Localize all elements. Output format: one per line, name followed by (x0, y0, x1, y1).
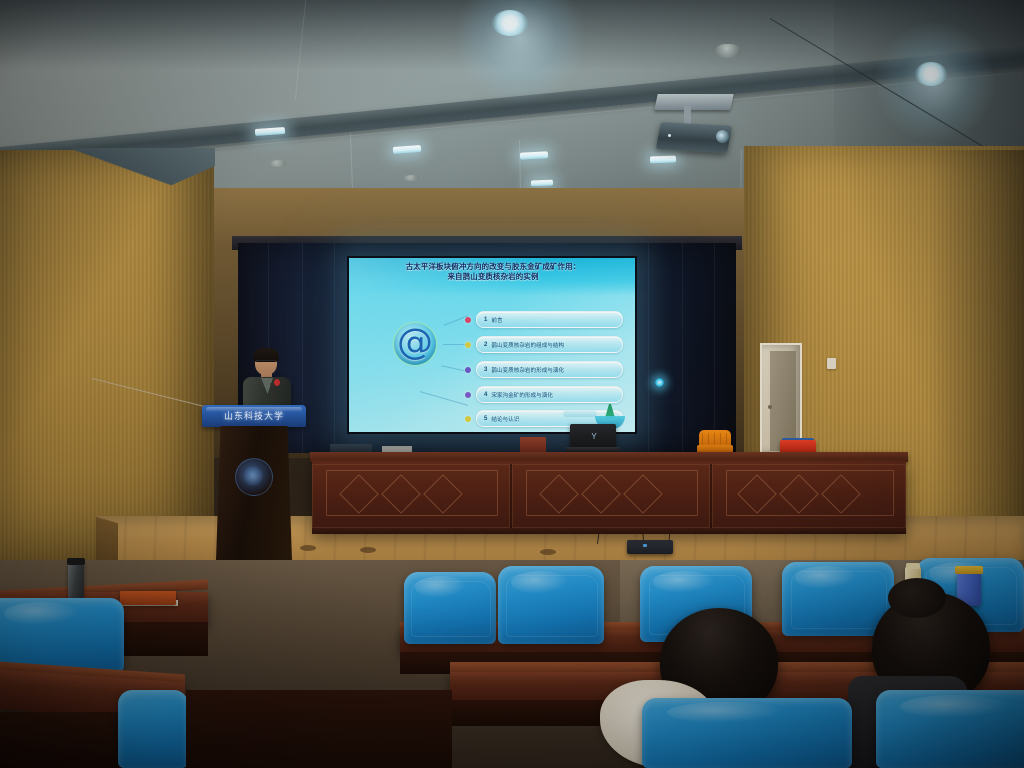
lecture-hall-photo: 古太平洋板块俯冲方向的改变与胶东金矿成矿作用： 来自鹊山变质核杂岩的实例 @ 1… (0, 0, 1024, 768)
foreground-chair[interactable] (642, 698, 852, 768)
slide-item-1: 1 前言 (465, 311, 623, 328)
panel-diamond-motif (821, 474, 861, 514)
slide-item-pill: 4 宋家沟金矿的形成与演化 (476, 386, 623, 403)
chair-highlight (4, 602, 79, 624)
slide-item-number: 4 (477, 392, 491, 398)
slide-title-line-1: 古太平洋板块俯冲方向的改变与胶东金矿成矿作用： (361, 262, 625, 272)
slide-bullet-dot (465, 392, 471, 398)
projection-screen: 古太平洋板块俯冲方向的改变与胶东金矿成矿作用： 来自鹊山变质核杂岩的实例 @ 1… (349, 258, 635, 432)
head-table-panel (526, 470, 698, 516)
slide-deco-bar (563, 410, 597, 417)
chair-back-slats (702, 433, 728, 444)
slide-item-number: 5 (477, 416, 491, 422)
audience-chair[interactable] (498, 566, 604, 644)
head-table-panel (726, 470, 894, 516)
left-front-chair[interactable] (118, 690, 188, 768)
audience-chair[interactable] (404, 572, 496, 644)
slide-item-4: 4 宋家沟金矿的形成与演化 (465, 386, 623, 403)
slide-item-text: 前言 (491, 316, 502, 324)
podium-institution-label: 山东科技大学 (202, 409, 306, 422)
chair-seam (411, 581, 490, 638)
chair-seam (791, 571, 887, 629)
slide-item-pill: 1 前言 (476, 311, 623, 328)
stage-floor-socket (360, 547, 376, 553)
slide-bullet-dot (465, 367, 471, 373)
slide-item-pill: 2 鹊山变质核杂岩的组成与结构 (476, 336, 623, 353)
slide-item-number: 3 (477, 367, 491, 373)
panel-diamond-motif (381, 474, 421, 514)
head-table (312, 460, 906, 532)
ceiling-light-strip (531, 180, 553, 187)
chair-seam (506, 575, 597, 636)
ceiling-light-strip (650, 156, 676, 164)
panel-diamond-motif (779, 474, 819, 514)
head-table-skirt (312, 528, 906, 534)
slide-item-text: 鹊山变质核杂岩的形成与演化 (491, 366, 564, 374)
panel-diamond-motif (423, 474, 463, 514)
slide-item-text: 结论与认识 (491, 415, 519, 423)
door-panel (770, 351, 796, 451)
presenter-laptop[interactable]: Y (566, 424, 618, 454)
slide-item-number: 1 (477, 317, 491, 323)
projector-mount-plate (654, 94, 733, 110)
stage-floor-socket (540, 549, 556, 555)
wall-plate-icon (827, 358, 836, 369)
slide-title-line-2: 来自鹊山变质核杂岩的实例 (361, 272, 625, 282)
chair-highlight (667, 702, 783, 723)
ceiling-light-strip (520, 151, 548, 159)
left-foreground-chair[interactable] (0, 598, 124, 672)
panel-diamond-motif (623, 474, 663, 514)
podium: 山东科技大学 (202, 405, 306, 560)
slide-connector (443, 344, 467, 345)
center-front-shadow (186, 690, 452, 768)
orange-notebook[interactable] (120, 591, 176, 605)
chair-highlight (900, 695, 1010, 718)
glasses-icon (256, 360, 276, 365)
ceiling-vent (270, 160, 286, 167)
slide-title: 古太平洋板块俯冲方向的改变与胶东金矿成矿作用： 来自鹊山变质核杂岩的实例 (361, 262, 625, 282)
presenter-person (243, 350, 291, 410)
projector-indicator (668, 134, 671, 137)
floor-cable-box (627, 540, 673, 554)
microphone-icon (274, 379, 280, 386)
downlight (915, 62, 947, 86)
panel-diamond-motif (539, 474, 579, 514)
slide-item-number: 2 (477, 342, 491, 348)
chair-back (118, 690, 188, 768)
hair-bun (888, 578, 946, 618)
floor-box-led-icon (643, 544, 647, 547)
ceiling-projector (650, 94, 742, 156)
projector-lens (716, 130, 729, 143)
vacuum-flask[interactable] (68, 562, 84, 598)
wall-indicator-light-icon (655, 378, 664, 387)
panel-diamond-motif (737, 474, 777, 514)
door-knob-icon[interactable] (768, 405, 772, 409)
panel-diamond-motif (339, 474, 379, 514)
slide-item-pill: 3 鹊山变质核杂岩的形成与演化 (476, 361, 623, 378)
slide-item-2: 2 鹊山变质核杂岩的组成与结构 (465, 336, 623, 353)
bottle-cap-icon (906, 563, 920, 569)
slide-item-text: 鹊山变质核杂岩的组成与结构 (491, 341, 564, 349)
panel-diamond-motif (581, 474, 621, 514)
flask-cap-icon (67, 558, 85, 565)
downlight (492, 10, 528, 36)
smoke-detector-icon (715, 44, 741, 58)
foreground-chair[interactable] (876, 690, 1024, 768)
slide-item-3: 3 鹊山变质核杂岩的形成与演化 (465, 361, 623, 378)
university-seal-glyph (243, 466, 263, 486)
slide-item-text: 宋家沟金矿的形成与演化 (491, 391, 553, 399)
slide-bullet-dot (465, 317, 471, 323)
slide-bullet-dot (465, 416, 471, 422)
mug-lid-icon (955, 566, 983, 574)
head-table-panel (326, 470, 498, 516)
laptop-logo-icon: Y (590, 433, 598, 441)
right-wall-corner-shadow (930, 150, 1024, 570)
ceiling-vent (404, 175, 419, 181)
slide-bullet-dot (465, 342, 471, 348)
at-symbol-icon: @ (394, 320, 436, 366)
